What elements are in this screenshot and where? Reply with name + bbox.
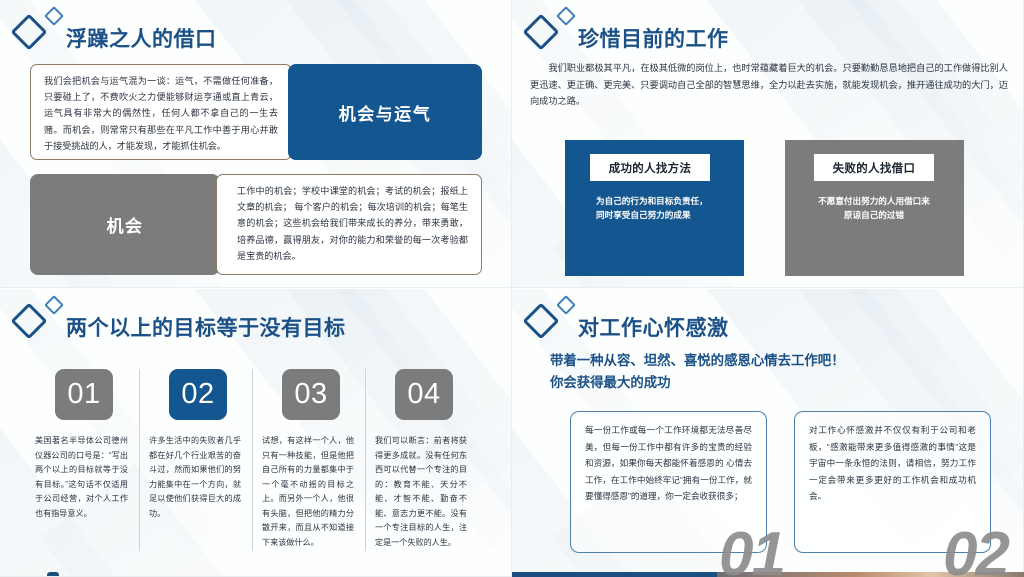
slide-2-card-2-body: 不愿意付出努力的人用借口来原谅自己的过错 <box>818 195 930 223</box>
slide-1: 浮躁之人的借口 我们会把机会与运气混为一谈：运气，不需做任何准备，只要碰上了，不… <box>0 0 512 288</box>
slide-4: 对工作心怀感激 带着一种从容、坦然、喜悦的感恩心情去工作吧！ 你会获得最大的成功… <box>512 289 1024 577</box>
step-text-01: 美国著名半导体公司德州仪器公司的口号是：“写出两个以上的目标就等于没有目标。”这… <box>35 434 130 521</box>
step-text-02: 许多生活中的失败者几乎都在好几个行业艰苦的奋斗过，然而如果他们的努力能集中在一个… <box>149 434 243 521</box>
step-number-02: 02 <box>169 369 227 420</box>
slide-2-card-group: 成功的人找方法 为自己的行为和目标负责任，同时享受自己努力的成果 失败的人找借口… <box>565 140 964 276</box>
slide-1-row-opportunity: 机会 工作中的机会；学校中课堂的机会；考试的机会；报纸上文章的机会； 每个客户的… <box>30 174 482 275</box>
step-text-04: 我们可以断言：前者将获得更多成就。没有任何东西可以代替一个专注的目的：教育不能、… <box>375 434 469 551</box>
step-item-02: 02 许多生活中的失败者几乎都在好几个行业艰苦的奋斗过，然而如果他们的努力能集中… <box>139 369 252 551</box>
slide-4-card-1: 每一份工作或每一个工作环境都无法尽善尽美，但每一份工作中都有许多的宝贵的经验和资… <box>570 411 767 553</box>
slide-3-title: 两个以上的目标等于没有目标 <box>66 318 346 339</box>
slide-4-card-1-text: 每一份工作或每一个工作环境都无法尽善尽美，但每一份工作中都有许多的宝贵的经验和资… <box>585 422 752 505</box>
diamond-small-icon <box>556 6 576 26</box>
diamond-decoration <box>526 297 584 339</box>
slide-3-step-group: 01 美国著名半导体公司德州仪器公司的口号是：“写出两个以上的目标就等于没有目标… <box>26 369 478 551</box>
diamond-decoration <box>14 8 72 50</box>
slide-1-row-2-text: 工作中的机会；学校中课堂的机会；考试的机会；报纸上文章的机会； 每个客户的机会；… <box>216 174 482 275</box>
slide-1-row-1-text: 我们会把机会与运气混为一谈：运气，不需做任何准备，只要碰上了，不费吹火之力便能够… <box>30 64 292 160</box>
slide-4-card-2-ghost-number: 02 <box>943 524 1008 577</box>
diamond-large-icon <box>11 303 48 340</box>
slide-4-title: 对工作心怀感激 <box>578 318 729 339</box>
slide-2-card-1-body: 为自己的行为和目标负责任，同时享受自己努力的成果 <box>596 195 714 223</box>
slide-2-card-2-heading: 失败的人找借口 <box>814 154 934 181</box>
slide-2-card-1-heading: 成功的人找方法 <box>590 154 710 181</box>
slide-1-title-row: 浮躁之人的借口 <box>14 8 217 50</box>
bottom-strip-blue-bar <box>512 572 717 577</box>
step-item-01: 01 美国著名半导体公司德州仪器公司的口号是：“写出两个以上的目标就等于没有目标… <box>26 369 139 551</box>
slide-3: 两个以上的目标等于没有目标 01 美国著名半导体公司德州仪器公司的口号是：“写出… <box>0 289 512 577</box>
slide-2-card-failure: 失败的人找借口 不愿意付出努力的人用借口来原谅自己的过错 <box>785 140 964 276</box>
slide-3-bottom-marker <box>47 572 59 577</box>
slide-2: 珍惜目前的工作 我们职业都极其平凡，在极其低微的岗位上，也时常蕴藏着巨大的机会。… <box>512 0 1024 288</box>
slide-4-headline-line-1: 带着一种从容、坦然、喜悦的感恩心情去工作吧！ <box>550 350 845 372</box>
slide-1-row-2-label: 机会 <box>30 174 220 275</box>
slide-4-card-2-text: 对工作心怀感激并不仅仅有利于公司和老板，“感激能带来更多值得感激的事情”这是宇宙… <box>809 422 976 505</box>
slide-4-card-1-ghost-number: 01 <box>719 524 784 577</box>
step-item-04: 04 我们可以断言：前者将获得更多成就。没有任何东西可以代替一个专注的目的：教育… <box>365 369 478 551</box>
slide-2-title: 珍惜目前的工作 <box>578 29 729 50</box>
slide-4-card-2: 对工作心怀感激并不仅仅有利于公司和老板，“感激能带来更多值得感激的事情”这是宇宙… <box>794 411 991 553</box>
diamond-decoration <box>526 8 584 50</box>
step-number-01: 01 <box>55 369 113 420</box>
slide-2-card-success: 成功的人找方法 为自己的行为和目标负责任，同时享受自己努力的成果 <box>565 140 744 276</box>
slide-2-title-row: 珍惜目前的工作 <box>526 8 729 50</box>
step-item-03: 03 试想，有这样一个人，他只有一种技能，但是他把自己所有的力量都集中于一个毫不… <box>252 369 365 551</box>
diamond-large-icon <box>11 14 48 51</box>
slide-4-headline: 带着一种从容、坦然、喜悦的感恩心情去工作吧！ 你会获得最大的成功 <box>550 350 845 393</box>
diamond-large-icon <box>523 14 560 51</box>
diamond-small-icon <box>556 295 576 315</box>
step-text-03: 试想，有这样一个人，他只有一种技能，但是他把自己所有的力量都集中于一个毫不动摇的… <box>262 434 356 551</box>
slide-grid: 浮躁之人的借口 我们会把机会与运气混为一谈：运气，不需做任何准备，只要碰上了，不… <box>0 0 1024 577</box>
diamond-large-icon <box>523 303 560 340</box>
slide-1-row-opportunity-luck: 我们会把机会与运气混为一谈：运气，不需做任何准备，只要碰上了，不费吹火之力便能够… <box>30 64 482 160</box>
slide-4-title-row: 对工作心怀感激 <box>526 297 729 339</box>
slide-4-card-group: 每一份工作或每一个工作环境都无法尽善尽美，但每一份工作中都有许多的宝贵的经验和资… <box>570 411 991 553</box>
diamond-decoration <box>14 297 72 339</box>
diamond-small-icon <box>44 295 64 315</box>
diamond-small-icon <box>44 6 64 26</box>
slide-1-title: 浮躁之人的借口 <box>66 29 217 50</box>
slide-4-headline-line-2: 你会获得最大的成功 <box>550 372 845 394</box>
slide-3-title-row: 两个以上的目标等于没有目标 <box>14 297 346 339</box>
slide-2-paragraph: 我们职业都极其平凡，在极其低微的岗位上，也时常蕴藏着巨大的机会。只要勤勤恳恳地把… <box>530 60 1008 110</box>
slide-1-row-1-label: 机会与运气 <box>288 64 482 160</box>
step-number-04: 04 <box>395 369 453 420</box>
step-number-03: 03 <box>282 369 340 420</box>
